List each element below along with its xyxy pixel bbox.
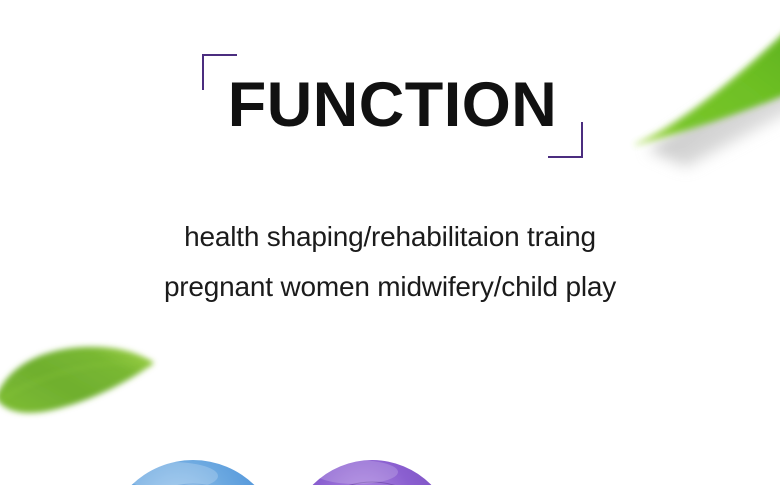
leaf-bottom-left-icon [0,325,165,435]
function-banner: FUNCTION health shaping/rehabilitaion tr… [0,0,780,485]
subtitle-line-2: pregnant women midwifery/child play [0,262,780,312]
exercise-ball-blue [105,460,281,485]
heading-block: FUNCTION [195,48,590,163]
subtitle-block: health shaping/rehabilitaion traing preg… [0,212,780,312]
exercise-balls-graphic [0,430,780,485]
exercise-ball-purple [289,460,455,485]
exercise-balls-layer [0,430,780,485]
subtitle-line-1: health shaping/rehabilitaion traing [0,212,780,262]
leaf-top-right-icon [590,10,780,190]
page-title: FUNCTION [195,74,590,137]
